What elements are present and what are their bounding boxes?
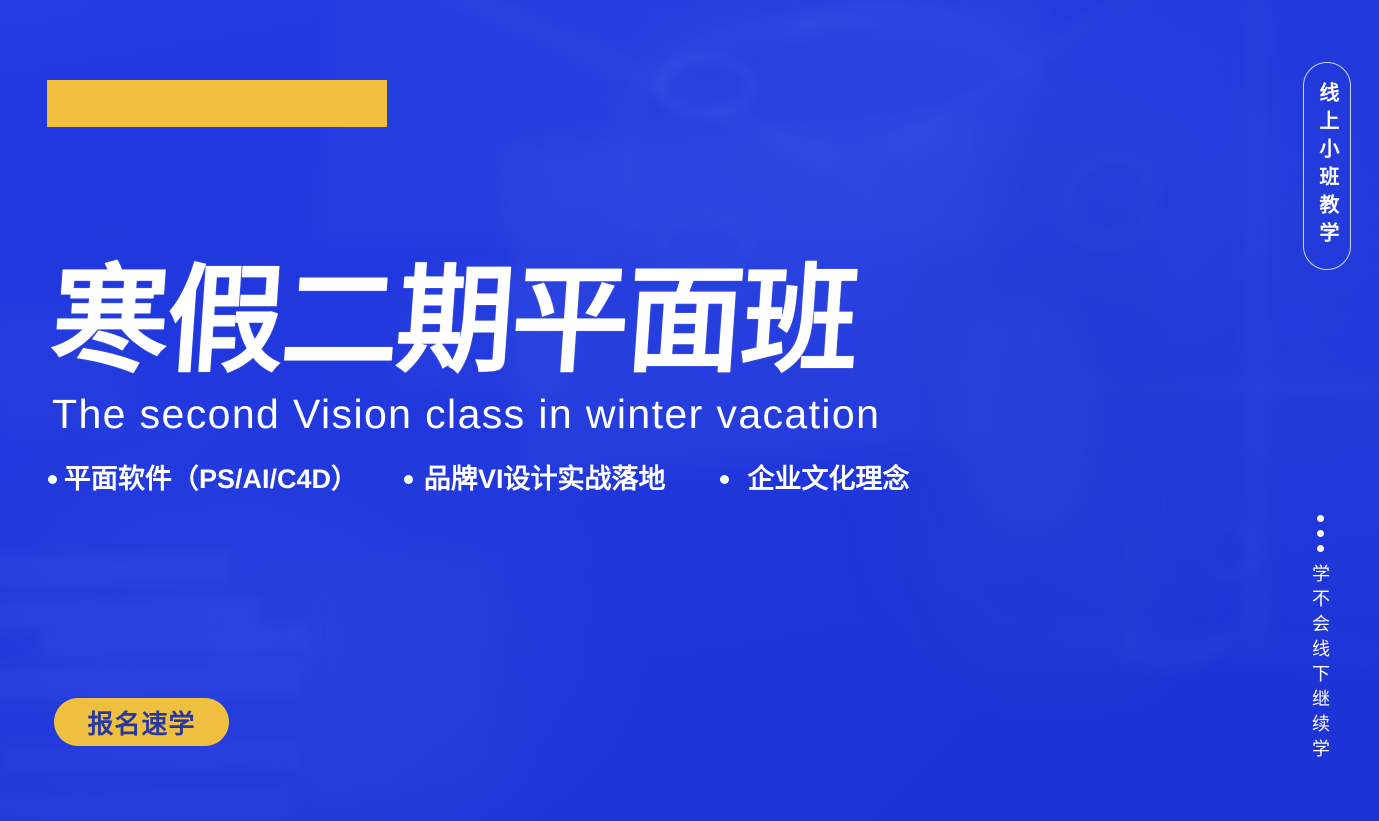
headline-title: 寒假二期平面班 <box>48 262 861 379</box>
bullet-dot-icon <box>48 475 57 484</box>
three-dots-icon <box>1317 515 1324 552</box>
promo-banner: 寒假二期平面班 The second Vision class in winte… <box>0 0 1379 821</box>
enroll-button[interactable]: 报名速学 <box>54 698 229 746</box>
feature-item-culture: 企业文化理念 <box>720 466 910 493</box>
feature-label: 企业文化理念 <box>748 466 910 493</box>
feature-label: 平面软件（PS/AI/C4D） <box>64 466 358 493</box>
feature-label: 品牌VI设计实战落地 <box>424 466 666 493</box>
dot-icon <box>1317 530 1324 537</box>
online-small-class-badge: 线上小班教学 <box>1303 62 1351 270</box>
bullet-dot-icon <box>404 475 413 484</box>
feature-item-software: 平面软件（PS/AI/C4D） <box>48 466 358 493</box>
badge-label: 线上小班教学 <box>1317 82 1337 250</box>
dot-icon <box>1317 545 1324 552</box>
feature-item-brand-vi: 品牌VI设计实战落地 <box>404 466 666 493</box>
feature-list: 平面软件（PS/AI/C4D） 品牌VI设计实战落地 企业文化理念 <box>48 466 910 493</box>
tagline-label: 学不会线下继续学 <box>1311 564 1329 764</box>
english-subtitle: The second Vision class in winter vacati… <box>52 394 880 435</box>
banner-content: 寒假二期平面班 The second Vision class in winte… <box>0 0 1379 821</box>
yellow-accent-bar <box>47 80 387 127</box>
guarantee-tagline: 学不会线下继续学 <box>1311 515 1329 764</box>
dot-icon <box>1317 515 1324 522</box>
bullet-dot-icon <box>720 475 729 484</box>
